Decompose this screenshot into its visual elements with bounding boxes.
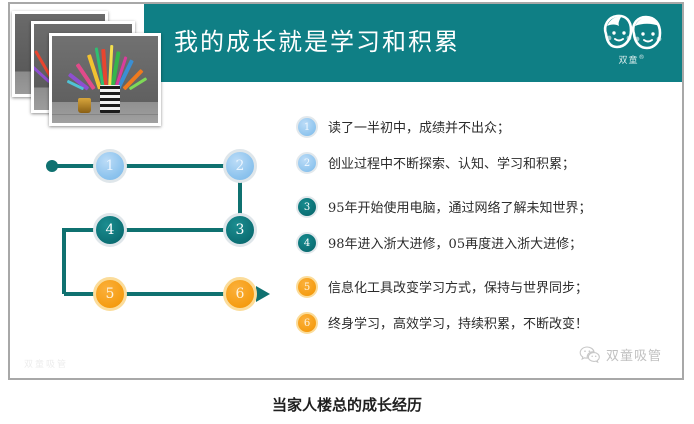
screenshot-root: 我的成长就是学习和积累	[0, 0, 694, 424]
list-bullet-1-label: 1	[304, 122, 310, 133]
list-item-text-4: 98年进入浙大进修，05再度进入浙大进修；	[328, 233, 582, 252]
slide-title: 我的成长就是学习和积累	[174, 22, 460, 57]
flow-node-5-label: 5	[106, 286, 115, 302]
two-faces-icon	[598, 12, 666, 54]
flow-node-2[interactable]: 2	[223, 149, 257, 183]
flow-node-4-label: 4	[106, 222, 115, 238]
brand-name-text: 双童	[618, 56, 638, 66]
list-bullet-4: 4	[296, 232, 318, 254]
flow-node-6[interactable]: 6	[223, 277, 257, 311]
list-bullet-5: 5	[296, 276, 318, 298]
list-bullet-3-label: 3	[304, 202, 310, 213]
end-arrow	[256, 286, 270, 302]
photo-stack	[12, 8, 164, 126]
list-item-text-5: 信息化工具改变学习方式，保持与世界同步；	[328, 277, 588, 296]
flow-node-1[interactable]: 1	[93, 149, 127, 183]
list-item: 3 95年开始使用电脑，通过网络了解未知世界；	[296, 196, 668, 218]
process-flow-diagram: 1 2 3 4 5 6	[28, 140, 286, 330]
photo-front	[49, 33, 161, 126]
flow-node-2-label: 2	[236, 158, 245, 174]
list-item-text-6: 终身学习，高效学习，持续积累，不断改变！	[328, 313, 588, 332]
list-bullet-1: 1	[296, 116, 318, 138]
list-bullet-6: 6	[296, 312, 318, 334]
list-item: 6 终身学习，高效学习，持续积累，不断改变！	[296, 312, 668, 334]
milestone-list: 1 读了一半初中，成绩并不出众； 2 创业过程中不断探索、认知、学习和积累； 3…	[296, 116, 668, 348]
start-dot	[46, 160, 58, 172]
brand-logo: 双童®	[594, 12, 670, 74]
corner-watermark: 双童吸管	[24, 357, 68, 370]
flow-node-4[interactable]: 4	[93, 213, 127, 247]
list-item-text-1: 读了一半初中，成绩并不出众；	[328, 117, 510, 136]
image-caption: 当家人楼总的成长经历	[0, 394, 694, 415]
wechat-label: 双童吸管	[606, 345, 662, 364]
registered-mark: ®	[639, 54, 646, 61]
flow-node-1-label: 1	[106, 158, 115, 174]
list-bullet-4-label: 4	[304, 238, 310, 249]
list-bullet-3: 3	[296, 196, 318, 218]
list-bullet-6-label: 6	[304, 318, 310, 329]
list-bullet-5-label: 5	[304, 282, 310, 293]
brand-name: 双童®	[594, 53, 670, 66]
wechat-icon	[579, 346, 601, 363]
list-item: 4 98年进入浙大进修，05再度进入浙大进修；	[296, 232, 668, 254]
list-item-text-3: 95年开始使用电脑，通过网络了解未知世界；	[328, 197, 592, 216]
flow-node-3[interactable]: 3	[223, 213, 257, 247]
wechat-watermark: 双童吸管	[579, 345, 662, 364]
list-item-text-2: 创业过程中不断探索、认知、学习和积累；	[328, 153, 575, 172]
presentation-slide: 我的成长就是学习和积累	[8, 2, 684, 380]
flow-node-5[interactable]: 5	[93, 277, 127, 311]
list-item: 1 读了一半初中，成绩并不出众；	[296, 116, 668, 138]
list-item: 5 信息化工具改变学习方式，保持与世界同步；	[296, 276, 668, 298]
list-bullet-2-label: 2	[304, 158, 310, 169]
flow-node-6-label: 6	[236, 286, 245, 302]
list-item: 2 创业过程中不断探索、认知、学习和积累；	[296, 152, 668, 174]
list-bullet-2: 2	[296, 152, 318, 174]
slide-header-band: 我的成长就是学习和积累	[144, 4, 684, 82]
flow-node-3-label: 3	[236, 222, 245, 238]
